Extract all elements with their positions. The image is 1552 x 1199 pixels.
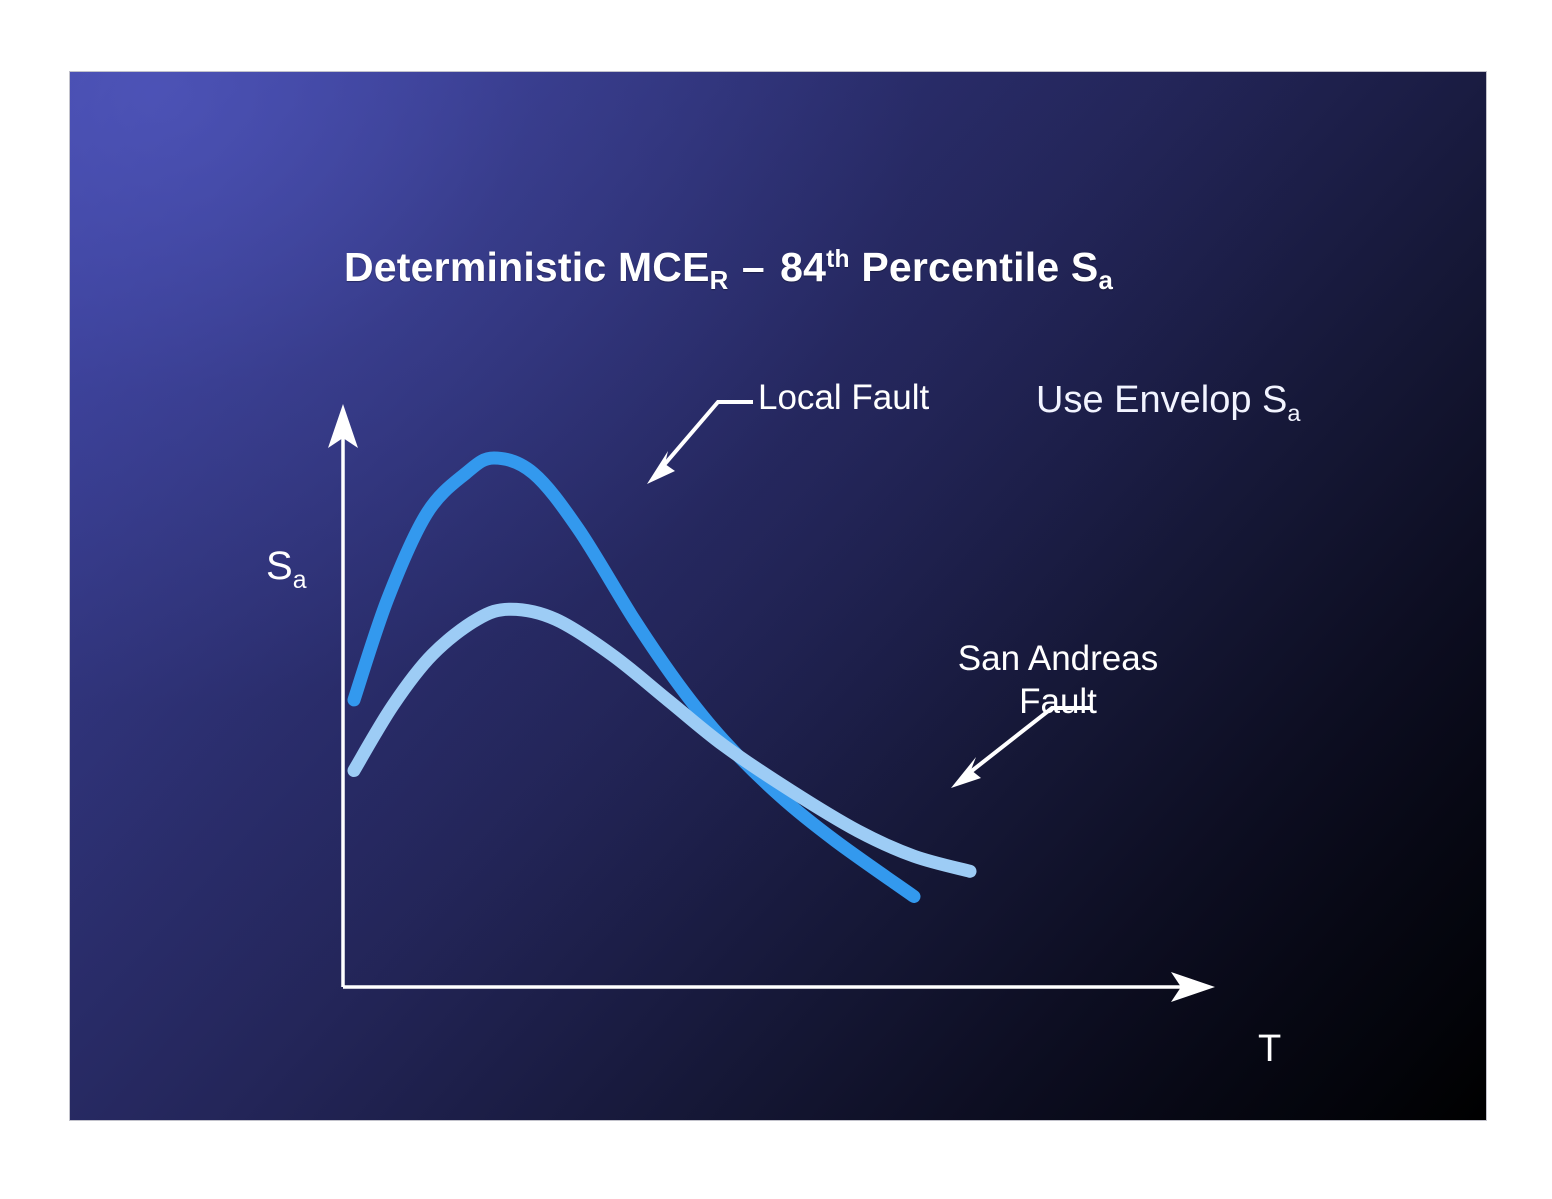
title-subscript-a: a xyxy=(1098,267,1113,295)
title-middle: Percentile S xyxy=(850,244,1099,290)
y-axis-label-subscript: a xyxy=(293,567,307,594)
note-subscript-a: a xyxy=(1287,400,1300,426)
title-prefix: Deterministic MCE xyxy=(344,244,710,290)
curve-san-andreas-fault xyxy=(354,609,970,871)
title-dash: – xyxy=(729,244,781,290)
use-envelope-note: Use Envelop Sa xyxy=(1036,379,1300,422)
y-axis-label: Sa xyxy=(266,544,306,589)
san-andreas-arrowhead xyxy=(951,757,981,788)
x-axis xyxy=(343,972,1215,1002)
response-spectrum-chart xyxy=(70,72,1486,1120)
title-subscript-r: R xyxy=(710,267,729,295)
san-andreas-annotation-label: San Andreas Fault xyxy=(928,638,1188,723)
x-axis-label: T xyxy=(1258,1028,1281,1071)
note-text: Use Envelop S xyxy=(1036,379,1287,421)
slide-title: Deterministic MCER – 84th Percentile Sa xyxy=(344,244,1113,291)
title-number: 84 xyxy=(780,244,826,290)
local-fault-leader xyxy=(647,402,753,484)
local-fault-annotation-label: Local Fault xyxy=(758,378,929,418)
san-andreas-label-line1: San Andreas xyxy=(928,638,1188,681)
screenshot-root: Deterministic MCER – 84th Percentile Sa … xyxy=(0,0,1552,1199)
presentation-slide: Deterministic MCER – 84th Percentile Sa … xyxy=(70,72,1486,1120)
y-axis-label-symbol: S xyxy=(266,544,293,588)
title-superscript-th: th xyxy=(826,246,850,273)
san-andreas-label-line2: Fault xyxy=(928,681,1188,724)
